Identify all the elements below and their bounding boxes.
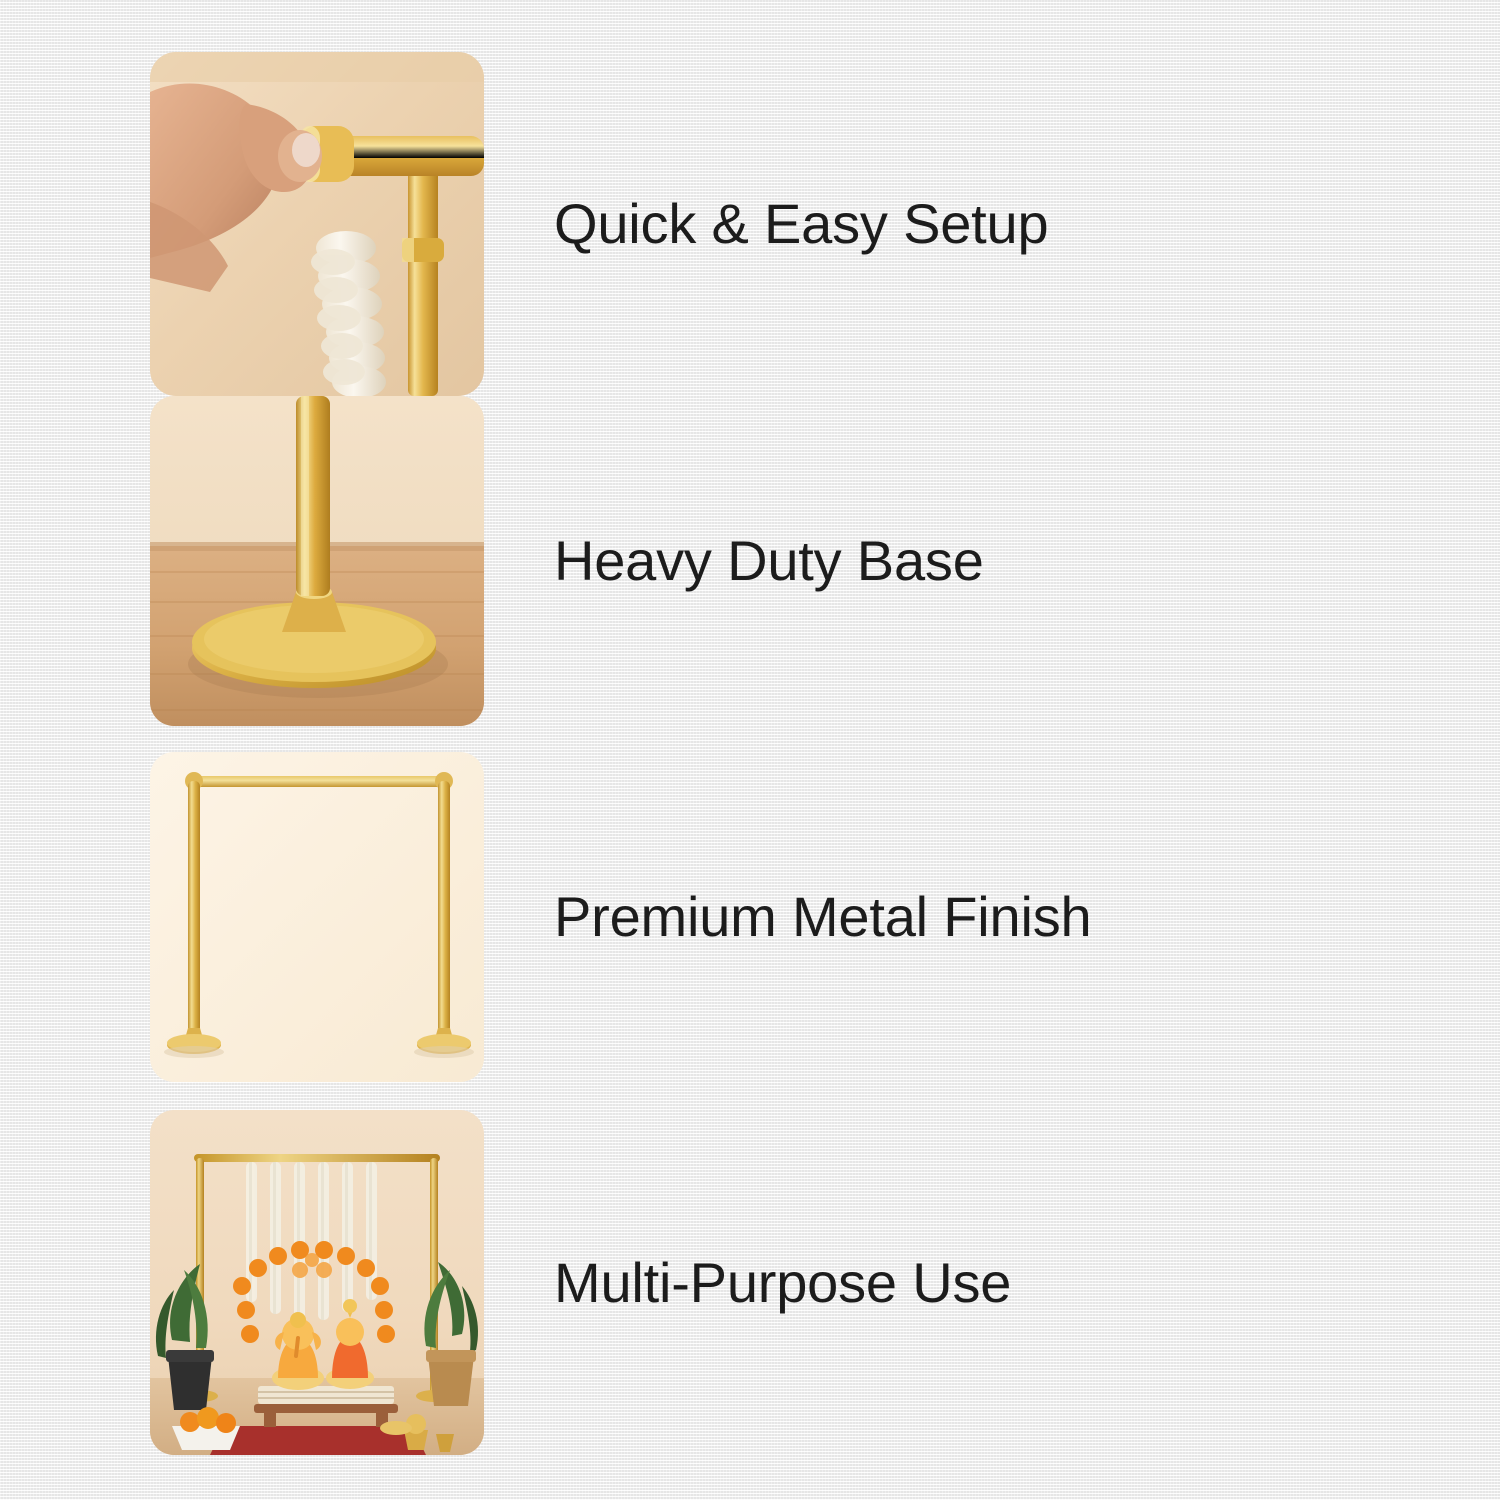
feature-row: Quick & Easy Setup	[150, 52, 1480, 396]
hand-attaching-gold-rod-connector-image	[150, 52, 484, 396]
feature-row: Premium Metal Finish	[150, 752, 1480, 1082]
feature-row: Heavy Duty Base	[150, 396, 1480, 726]
feature-label-heavy-duty-base: Heavy Duty Base	[554, 530, 984, 592]
feature-label-premium-metal-finish: Premium Metal Finish	[554, 886, 1091, 948]
feature-label-multi-purpose-use: Multi-Purpose Use	[554, 1252, 1011, 1314]
gold-round-weighted-base-on-wood-floor-image	[150, 396, 484, 726]
feature-label-quick-easy-setup: Quick & Easy Setup	[554, 193, 1048, 255]
pooja-setup-with-ganesh-lakshmi-idols-image	[150, 1110, 484, 1455]
feature-row: Multi-Purpose Use	[150, 1110, 1480, 1455]
full-gold-backdrop-stand-frame-image	[150, 752, 484, 1082]
feature-list: Quick & Easy Setup	[0, 0, 1500, 1500]
